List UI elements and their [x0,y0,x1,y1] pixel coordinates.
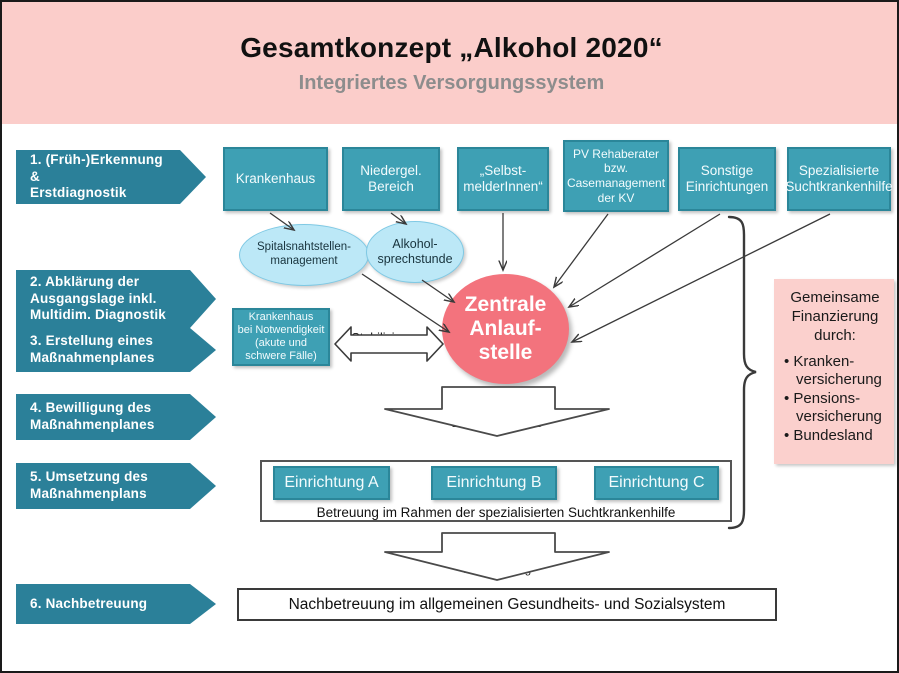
closure-arrow: Abschlussdes Maßnahmenplanes& Vermittlun… [385,531,609,579]
ellipse-alkoholsprechstunde[interactable]: Alkohol-sprechstunde [366,221,464,283]
connector-alkoholsprechstunde-to-center [422,280,454,302]
finance-box: GemeinsameFinanzierungdurch: Kranken-ver… [774,279,894,464]
closure-arrow-label: Abschlussdes Maßnahmenplanes& Vermittlun… [385,535,609,577]
connector-sonstige-to-center [569,214,720,307]
finance-item: Pensions-versicherung [784,390,886,426]
entry-box-spezialisierte-suchtkrankenhilfe[interactable]: SpezialisierteSuchtkrankenhilfe [787,147,891,211]
finance-heading: GemeinsameFinanzierungdurch: [784,289,886,345]
step-2-abklaerung[interactable]: 2. Abklärung derAusgangslage inkl.Multid… [16,270,216,328]
page-subtitle: Integriertes Versorgungssystem [2,72,899,95]
approval-arrow-label: Bewilligung durchBegutachtungs- undBewil… [385,389,609,431]
connector-spitalsnahtstelle-to-center [362,274,449,332]
finance-item: Kranken-versicherung [784,353,886,389]
page-title: Gesamtkonzept „Alkohol 2020“ [2,32,899,64]
entry-box-krankenhaus[interactable]: Krankenhaus [223,147,328,211]
institution-box-c[interactable]: Einrichtung C [594,466,719,500]
step-3-massnahmenplan[interactable]: 3. Erstellung einesMaßnahmenplanes [16,328,216,372]
finance-brace [729,217,756,528]
institution-box-b[interactable]: Einrichtung B [431,466,557,500]
step-5-umsetzung[interactable]: 5. Umsetzung desMaßnahmenplans [16,463,216,509]
entry-box-selbstmelderinnen[interactable]: „Selbst-melderInnen“ [457,147,549,211]
hospital-acute-box[interactable]: Krankenhausbei Notwendigkeit(akute undsc… [232,308,330,366]
ellipse-spitalsnahtstellenmanagement[interactable]: Spitalsnahtstellen-management [239,224,369,286]
finance-list: Kranken-versicherung Pensions-versicheru… [784,353,886,445]
stabilisierung-label: Stabilisierung [341,331,437,345]
step-1-erkennung[interactable]: 1. (Früh-)Erkennung &Erstdiagnostik [16,150,206,204]
entry-box-pv-rehaberater[interactable]: PV Rehaberaterbzw.Casemanagementder KV [563,140,669,212]
finance-item: Bundesland [784,427,886,445]
aftercare-bar[interactable]: Nachbetreuung im allgemeinen Gesundheits… [237,588,777,621]
institutions-caption: Betreuung im Rahmen der spezialisierten … [260,505,732,520]
connector-pv-rehaberater-to-center [554,214,608,287]
entry-box-sonstige-einrichtungen[interactable]: SonstigeEinrichtungen [678,147,776,211]
central-contact-point[interactable]: ZentraleAnlauf-stelle [442,274,569,384]
approval-arrow: Bewilligung durchBegutachtungs- undBewil… [385,385,609,435]
step-4-bewilligung[interactable]: 4. Bewilligung desMaßnahmenplanes [16,394,216,440]
institution-box-a[interactable]: Einrichtung A [273,466,390,500]
entry-box-niedergelassener-bereich[interactable]: Niedergel.Bereich [342,147,440,211]
step-6-nachbetreuung[interactable]: 6. Nachbetreuung [16,584,216,624]
slide-canvas: Gesamtkonzept „Alkohol 2020“ Integrierte… [0,0,899,673]
